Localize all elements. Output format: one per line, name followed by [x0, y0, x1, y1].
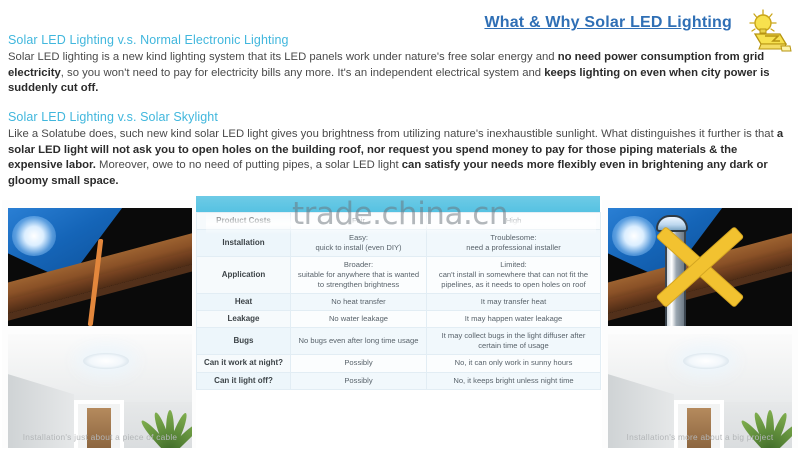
table-cell-skylight: It may transfer heat — [427, 293, 601, 310]
section-normal-lighting: Solar LED Lighting v.s. Normal Electroni… — [8, 33, 792, 97]
panel-caption: Installation's more about a big project — [602, 432, 798, 442]
table-cell-label: Can it work at night? — [197, 355, 291, 372]
photo-roof-skylight-tube — [608, 208, 792, 326]
photo-indoor-ceiling — [608, 334, 792, 448]
ceiling-led-lamp — [83, 353, 129, 369]
photo-roof-cable — [8, 208, 192, 326]
table-cell-skylight: It may collect bugs in the light diffuse… — [427, 328, 601, 355]
table-cell-label: Can it light off? — [197, 372, 291, 389]
table-row: Can it work at night?PossiblyNo, it can … — [197, 355, 601, 372]
table-row: HeatNo heat transferIt may transfer heat — [197, 293, 601, 310]
table-cell-skylight: It may happen water leakage — [427, 311, 601, 328]
table-row: Product CostsFairHigh — [197, 213, 601, 230]
panel-solar-led: Installation's just about a piece of cab… — [2, 200, 198, 448]
table-cell-solar-led: Fair — [291, 213, 427, 230]
section-body: Like a Solatube does, such new kind sola… — [8, 127, 792, 189]
ceiling-skylight-diffuser — [683, 353, 729, 369]
table-cell-solar-led: Possibly — [291, 355, 427, 372]
panel-caption: Installation's just about a piece of cab… — [2, 432, 198, 442]
table-cell-label: Heat — [197, 293, 291, 310]
page-title: What & Why Solar LED Lighting — [484, 8, 732, 32]
comparison-table: Product CostsFairHighInstallationEasy:qu… — [196, 212, 601, 390]
section-heading: Solar LED Lighting v.s. Normal Electroni… — [8, 33, 792, 47]
section-solar-skylight: Solar LED Lighting v.s. Solar Skylight L… — [8, 110, 792, 189]
table-header-bar — [196, 196, 600, 212]
table-cell-solar-led: No water leakage — [291, 311, 427, 328]
comparison-table-container: Product CostsFairHighInstallationEasy:qu… — [196, 196, 600, 448]
table-row: LeakageNo water leakageIt may happen wat… — [197, 311, 601, 328]
table-cell-solar-led: No heat transfer — [291, 293, 427, 310]
table-cell-solar-led: Broader:suitable for anywhere that is wa… — [291, 257, 427, 294]
photo-indoor-ceiling — [8, 334, 192, 448]
section-heading: Solar LED Lighting v.s. Solar Skylight — [8, 110, 792, 124]
table-cell-label: Installation — [197, 230, 291, 257]
page-root: What & Why Solar LED Lighting Solar LED … — [0, 0, 800, 451]
sun-flare — [12, 216, 56, 256]
table-cell-skylight: Limited:can't install in somewhere that … — [427, 257, 601, 294]
table-cell-label: Application — [197, 257, 291, 294]
table-row: ApplicationBroader:suitable for anywhere… — [197, 257, 601, 294]
table-cell-solar-led: Easy:quick to install (even DIY) — [291, 230, 427, 257]
table-cell-skylight: High — [427, 213, 601, 230]
table-cell-skylight: No, it can only work in sunny hours — [427, 355, 601, 372]
skylight-dome — [656, 215, 688, 232]
sun-flare — [612, 216, 656, 256]
table-cell-solar-led: No bugs even after long time usage — [291, 328, 427, 355]
table-row: Can it light off?PossiblyNo, it keeps br… — [197, 372, 601, 389]
table-cell-skylight: Troublesome:need a professional installe… — [427, 230, 601, 257]
table-cell-label: Leakage — [197, 311, 291, 328]
table-cell-label: Product Costs — [197, 213, 291, 230]
section-body: Solar LED lighting is a new kind lightin… — [8, 50, 792, 97]
table-row: BugsNo bugs even after long time usageIt… — [197, 328, 601, 355]
panel-solar-skylight: Installation's more about a big project — [602, 200, 798, 448]
table-cell-solar-led: Possibly — [291, 372, 427, 389]
table-cell-skylight: No, it keeps bright unless night time — [427, 372, 601, 389]
table-cell-label: Bugs — [197, 328, 291, 355]
table-row: InstallationEasy:quick to install (even … — [197, 230, 601, 257]
